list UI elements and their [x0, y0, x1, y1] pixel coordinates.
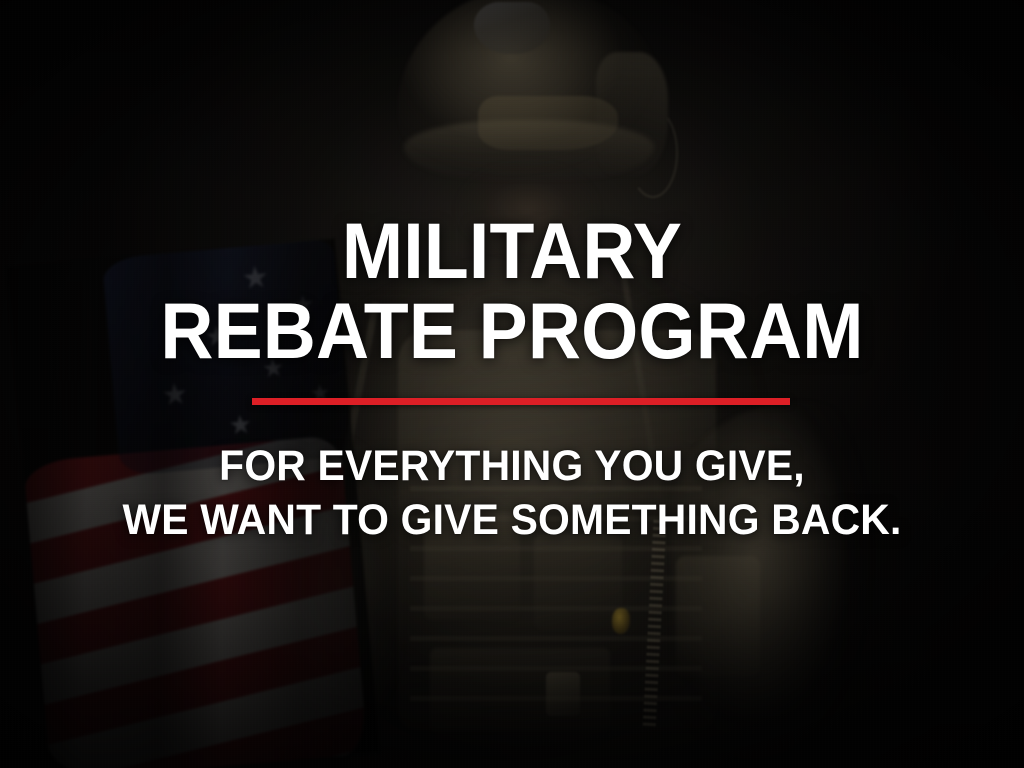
subheadline: FOR EVERYTHING YOU GIVE, WE WANT TO GIVE… — [26, 440, 999, 548]
headline-line-1: MILITARY — [36, 214, 988, 287]
red-divider-rule — [252, 398, 790, 405]
text-overlay: MILITARY REBATE PROGRAM FOR EVERYTHING Y… — [0, 0, 1024, 768]
headline-line-2: REBATE PROGRAM — [36, 294, 988, 367]
subheadline-line-1: FOR EVERYTHING YOU GIVE, — [26, 440, 999, 494]
slide-canvas: ★ ★ ★ ★ ★ ★ ★ MILITARY REBATE PROGRAM FO… — [0, 0, 1024, 768]
subheadline-line-2: WE WANT TO GIVE SOMETHING BACK. — [26, 494, 999, 548]
